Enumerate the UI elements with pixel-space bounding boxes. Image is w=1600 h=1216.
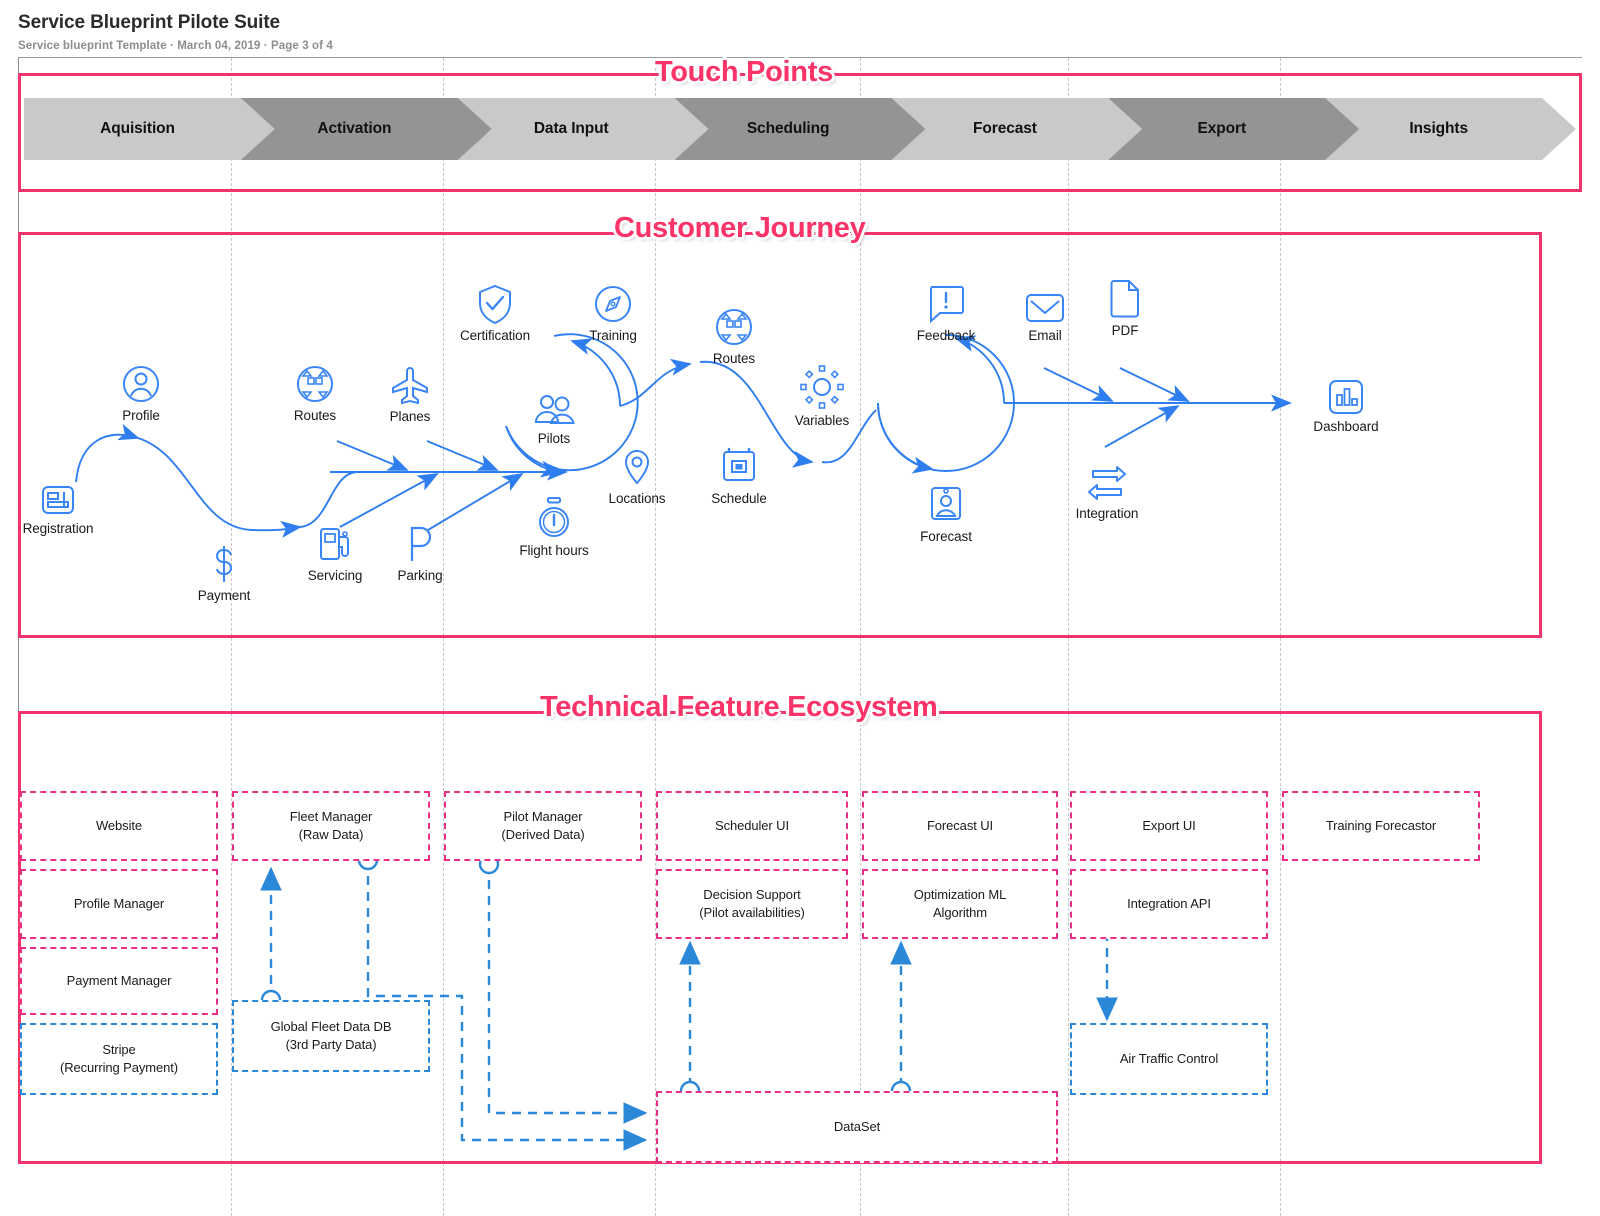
journey-node: Dashboard (1281, 368, 1411, 434)
journey-node: Registration (0, 470, 123, 536)
journey-node: Forecast (881, 478, 1011, 544)
id-card-icon (881, 478, 1011, 526)
touch-point-label: Scheduling (747, 120, 830, 138)
compass-icon (548, 277, 678, 325)
tech-box-label: Decision Support (Pilot availabilities) (699, 886, 804, 921)
journey-label: Schedule (674, 491, 804, 506)
tech-box-profile-manager[interactable]: Profile Manager (20, 869, 218, 939)
users-icon (489, 380, 619, 428)
tech-box-integration-api[interactable]: Integration API (1070, 869, 1268, 939)
parking-icon (355, 517, 485, 565)
tech-box-air-traffic-control[interactable]: Air Traffic Control (1070, 1023, 1268, 1095)
journey-node: Profile (76, 357, 206, 423)
tech-box-label: Payment Manager (67, 972, 172, 990)
journey-label: Integration (1042, 506, 1172, 521)
sun-icon (757, 362, 887, 410)
journey-node: Parking (355, 517, 485, 583)
journey-label: Dashboard (1281, 419, 1411, 434)
touch-point-activation[interactable]: Activation (241, 98, 492, 160)
journey-label: Training (548, 328, 678, 343)
tech-box-training-forecastor[interactable]: Training Forecastor (1282, 791, 1480, 861)
registration-icon (0, 470, 123, 518)
journey-node: Certification (430, 277, 560, 343)
tech-box-global-fleet-db[interactable]: Global Fleet Data DB (3rd Party Data) (232, 1000, 430, 1072)
plane-icon (345, 358, 475, 406)
tech-box-label: Export UI (1142, 817, 1195, 835)
tech-box-label: Optimization ML Algorithm (914, 886, 1006, 921)
shield-check-icon (430, 277, 560, 325)
touch-points-strip: AquisitionActivationData InputScheduling… (24, 98, 1576, 160)
journey-node: Training (548, 277, 678, 343)
tech-box-label: Forecast UI (927, 817, 993, 835)
tech-box-optimization-ml[interactable]: Optimization ML Algorithm (862, 869, 1058, 939)
technical-ecosystem-title: Technical Feature Ecosystem (540, 691, 938, 724)
profile-icon (76, 357, 206, 405)
tech-box-forecast-ui[interactable]: Forecast UI (862, 791, 1058, 861)
document-header: Service Blueprint Pilote Suite Service b… (18, 12, 1582, 52)
page-title: Service Blueprint Pilote Suite (18, 12, 1582, 34)
touch-point-export[interactable]: Export (1108, 98, 1359, 160)
touch-point-label: Forecast (973, 120, 1037, 138)
tech-box-label: Profile Manager (74, 895, 164, 913)
globe-icon (669, 300, 799, 348)
tech-box-label: Stripe (Recurring Payment) (60, 1041, 178, 1076)
touch-point-label: Data Input (534, 120, 609, 138)
touch-point-forecast[interactable]: Forecast (891, 98, 1142, 160)
touch-point-label: Activation (317, 120, 391, 138)
tech-box-label: Air Traffic Control (1120, 1050, 1218, 1068)
journey-node: Schedule (674, 440, 804, 506)
tech-box-label: Global Fleet Data DB (3rd Party Data) (271, 1018, 392, 1053)
journey-label: Variables (757, 413, 887, 428)
journey-label: Profile (76, 408, 206, 423)
touch-point-label: Aquisition (100, 120, 175, 138)
journey-label: Registration (0, 521, 123, 536)
tech-box-label: Scheduler UI (715, 817, 789, 835)
touch-point-label: Export (1198, 120, 1247, 138)
journey-node: Pilots (489, 380, 619, 446)
touch-points-title: Touch Points (655, 56, 833, 89)
tech-box-stripe[interactable]: Stripe (Recurring Payment) (20, 1023, 218, 1095)
touch-point-label: Insights (1409, 120, 1468, 138)
tech-box-label: Fleet Manager (Raw Data) (290, 808, 373, 843)
touch-point-insights[interactable]: Insights (1325, 98, 1576, 160)
tech-box-decision-support[interactable]: Decision Support (Pilot availabilities) (656, 869, 848, 939)
tech-box-payment-manager[interactable]: Payment Manager (20, 947, 218, 1015)
journey-label: PDF (1060, 323, 1190, 338)
tech-box-dataset[interactable]: DataSet (656, 1091, 1058, 1163)
journey-label: Flight hours (489, 543, 619, 558)
tech-box-pilot-manager[interactable]: Pilot Manager (Derived Data) (444, 791, 642, 861)
journey-node: Variables (757, 362, 887, 428)
journey-label: Forecast (881, 529, 1011, 544)
tech-box-fleet-manager[interactable]: Fleet Manager (Raw Data) (232, 791, 430, 861)
tech-box-label: Training Forecastor (1326, 817, 1436, 835)
journey-label: Payment (159, 588, 289, 603)
journey-label: Parking (355, 568, 485, 583)
sync-arrows-icon (1042, 455, 1172, 503)
journey-label: Certification (430, 328, 560, 343)
journey-node: PDF (1060, 272, 1190, 338)
calendar-icon (674, 440, 804, 488)
touch-point-data-input[interactable]: Data Input (458, 98, 709, 160)
document-meta: Service blueprint Template · March 04, 2… (18, 40, 1582, 52)
touch-point-aquisition[interactable]: Aquisition (24, 98, 275, 160)
touch-point-scheduling[interactable]: Scheduling (675, 98, 926, 160)
journey-node: Routes (669, 300, 799, 366)
customer-journey-title: Customer Journey (614, 212, 865, 245)
tech-box-export-ui[interactable]: Export UI (1070, 791, 1268, 861)
journey-node: Integration (1042, 455, 1172, 521)
tech-box-website[interactable]: Website (20, 791, 218, 861)
tech-box-label: Integration API (1127, 895, 1211, 913)
bar-chart-icon (1281, 368, 1411, 416)
tech-box-label: DataSet (834, 1118, 880, 1136)
tech-box-label: Pilot Manager (Derived Data) (501, 808, 584, 843)
document-icon (1060, 272, 1190, 320)
journey-label: Planes (345, 409, 475, 424)
journey-node: Planes (345, 358, 475, 424)
tech-box-scheduler-ui[interactable]: Scheduler UI (656, 791, 848, 861)
tech-box-label: Website (96, 817, 142, 835)
